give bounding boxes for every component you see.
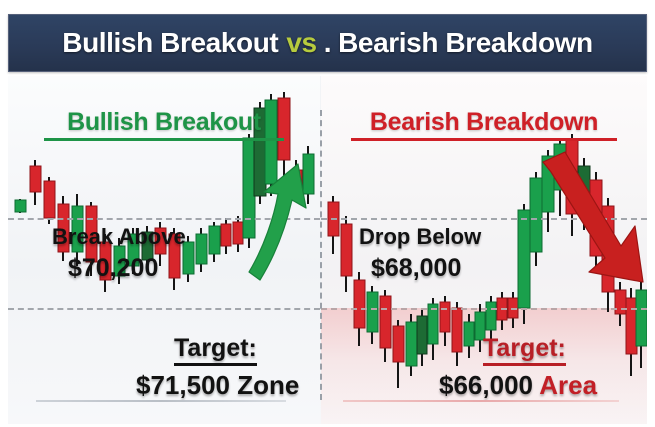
panel-divider xyxy=(320,110,322,400)
target-suffix-bearish: Area xyxy=(539,370,597,400)
target-label-bullish: Target: xyxy=(174,334,257,366)
target-value-bullish: $71,500 xyxy=(136,370,230,400)
page-title: Bullish Breakout vs . Bearish Breakdown xyxy=(62,27,592,59)
level-line-break-above xyxy=(8,218,320,220)
page-title-vs-dot: . xyxy=(324,27,331,59)
header-bar: Bullish Breakout vs . Bearish Breakdown xyxy=(8,14,647,72)
infographic-root: Bullish Breakout vs . Bearish Breakdown xyxy=(0,0,655,427)
annotation-drop-below-label: Drop Below xyxy=(359,224,481,250)
page-title-vs: vs xyxy=(286,27,316,59)
panel-bearish-base-rule xyxy=(343,400,619,402)
panel-title-bearish: Bearish Breakdown xyxy=(321,108,647,140)
level-line-drop-below xyxy=(321,218,647,220)
panel-title-bearish-text: Bearish Breakdown xyxy=(368,108,600,140)
page-title-right: Bearish Breakdown xyxy=(338,27,593,59)
panel-bearish: Bearish Breakdown Drop Below $68,000 Tar… xyxy=(321,76,647,424)
panel-title-bearish-underline xyxy=(351,138,617,141)
annotation-drop-below-price: $68,000 xyxy=(371,254,461,283)
panel-title-bullish: Bullish Breakout xyxy=(8,108,320,140)
page-title-left: Bullish Breakout xyxy=(62,27,278,59)
target-suffix-bullish: Zone xyxy=(237,370,299,400)
panel-title-bullish-underline xyxy=(44,138,284,141)
panel-title-bullish-text: Bullish Breakout xyxy=(65,108,263,140)
panel-bullish-base-rule xyxy=(36,400,286,402)
panel-bullish: Bullish Breakout Break Above $70,200 Tar… xyxy=(8,76,320,424)
target-label-bearish: Target: xyxy=(483,334,566,366)
annotation-break-above-label: Break Above xyxy=(52,224,186,250)
panels-container: Bullish Breakout Break Above $70,200 Tar… xyxy=(8,76,647,424)
level-line-target-area xyxy=(321,308,647,310)
target-value-bearish: $66,000 xyxy=(439,370,533,400)
annotation-break-above-price: $70,200 xyxy=(68,254,158,283)
level-line-support-left xyxy=(8,308,320,310)
